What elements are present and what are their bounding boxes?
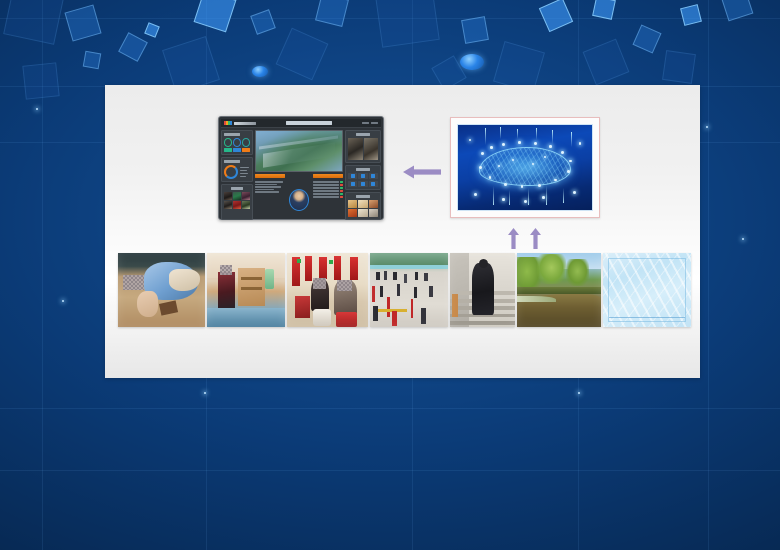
photo-stair [450,321,516,325]
background-gridline [0,408,780,409]
ai-brain-illustration[interactable] [450,117,600,218]
photo-person [424,273,427,281]
cctv-card-title [356,133,370,136]
brain-light-ray [509,190,510,205]
dashboard-right-panel [345,130,381,220]
photo-treeline [370,253,447,265]
cctv-card [345,130,381,163]
brain-node [490,146,493,149]
photo-person [376,272,379,280]
grid-icon[interactable] [348,173,357,179]
background-gridline [708,0,709,550]
brain-node [579,142,582,145]
background-spark [578,392,580,394]
gauge-meter[interactable] [242,138,250,147]
source-scene-photos [118,253,691,327]
gauge-meter[interactable] [224,138,232,147]
brain-node [554,179,557,182]
dashboard-logo-icon [224,121,232,125]
status-row [313,190,343,192]
ring-chart-legend [240,167,250,178]
content-slide-panel [105,85,700,378]
photo-decoration [350,257,357,279]
person-thumbnails-card [221,184,253,220]
gauge-meter[interactable] [233,138,241,147]
photo-railing [452,294,457,316]
face-mosaic [220,265,232,275]
photo-floor [207,308,284,327]
status-row [313,187,343,189]
photo-banner [370,265,447,269]
background-square [374,0,440,48]
list-item[interactable] [287,253,368,327]
brain-light-ray [571,132,572,147]
photo-cabinet-line [241,287,261,290]
brain-light-ray [546,185,547,205]
cctv-view[interactable] [364,138,379,160]
photo-person [380,286,384,297]
status-row [313,181,343,183]
background-spark [706,126,708,128]
status-row [313,193,343,195]
person-thumbnail[interactable] [242,192,250,200]
photo-barrier-rail [373,309,407,312]
brain-node [469,139,472,142]
brain-light-ray [485,128,486,145]
evidence-photo[interactable] [369,200,378,208]
photo-box [336,312,357,327]
arrow-up-right [530,228,541,249]
photo-person [392,311,397,326]
icon-grid[interactable] [348,173,378,187]
brain-node [542,196,545,199]
brain-node [518,141,521,144]
section-bar-row [255,174,343,178]
brain-node [524,200,527,203]
person-thumbnails-title [231,187,243,190]
brain-light-ray [552,130,553,144]
photo-subject [218,272,235,308]
detail-list-left [255,180,285,220]
brain-node [489,176,492,179]
photo-person [421,308,426,324]
icon-grid-title [356,168,370,171]
evidence-photo[interactable] [369,209,378,217]
brain-node [561,151,564,154]
gauge-button[interactable] [233,148,241,152]
photo-tree [566,259,589,286]
brain-node [538,184,541,187]
list-item[interactable] [603,253,691,327]
ring-chart-card [221,157,253,182]
list-item[interactable] [517,253,600,327]
status-row [313,184,343,186]
photo-inner-line [609,317,685,318]
list-item[interactable] [370,253,447,327]
background-square [83,51,102,70]
video-overlay-strip [259,136,338,150]
photo-decoration [297,259,301,263]
photo-decoration [319,257,326,279]
brain-node [502,143,505,146]
brain-node [502,198,505,201]
grid-icon[interactable] [369,181,378,187]
person-thumbnail[interactable] [233,192,241,200]
section-bar-left [255,174,285,178]
person-thumbnail[interactable] [224,201,232,209]
brain-light-ray [500,127,501,139]
brain-light-ray [517,129,518,139]
ai-brain-image [457,124,593,211]
brain-node [534,142,537,145]
photo-person [429,286,433,298]
photo-person [415,272,418,281]
photo-person [397,284,401,296]
person-avatar[interactable] [289,189,309,211]
evidence-photo-grid[interactable] [348,200,378,217]
grid-icon[interactable] [358,181,367,187]
donut-chart[interactable] [224,165,238,179]
photo-subject [295,296,310,318]
gauge-button[interactable] [224,148,232,152]
background-square [662,50,696,84]
photo-person [404,274,407,283]
dashboard-left-panel [221,130,253,220]
brain-node [474,193,477,196]
evidence-photo[interactable] [358,209,367,217]
photo-tree [537,254,565,284]
brain-node [512,159,514,161]
section-bar-right [313,174,343,178]
photo-barrier [387,297,389,316]
photo-decoration [305,256,312,281]
dashboard-title [258,121,361,125]
background-spark [742,238,744,240]
focus-person-panel[interactable] [287,180,311,220]
photo-person [384,271,387,280]
ring-chart-title [224,160,240,163]
gauges-card-title [224,133,240,136]
detail-list-right [313,180,343,220]
list-item[interactable] [450,253,516,327]
evidence-photo-card [345,192,381,220]
person-thumbnail-grid[interactable] [224,192,250,209]
brain-node [569,160,572,163]
photo-person [414,287,418,298]
brain-node [573,191,576,194]
background-square [461,16,489,44]
background-spark [204,392,206,394]
dashboard-nav[interactable] [362,122,378,125]
person-thumbnail[interactable] [242,201,250,209]
face-mosaic [123,275,144,290]
background-square [22,62,59,99]
photo-subject-head [479,259,488,268]
status-row [313,196,343,198]
dashboard-header [221,119,381,128]
evidence-photo[interactable] [348,209,357,217]
photo-person [393,272,396,280]
icon-grid-card [345,165,381,190]
person-thumbnail[interactable] [233,201,241,209]
photo-barrier [372,286,375,302]
gauge-button[interactable] [242,148,250,152]
gauge-button-row[interactable] [224,148,250,152]
face-mosaic [313,278,326,289]
grid-icon[interactable] [348,181,357,187]
person-thumbnail[interactable] [224,192,232,200]
center-bottom-row [255,180,343,220]
photo-barrier [411,299,413,318]
background-gridline [0,470,780,471]
photo-path [517,296,555,302]
gauge-row [224,138,250,147]
brain-light-ray [493,186,494,205]
brain-node [549,145,552,148]
photo-object [159,300,179,315]
ring-chart-body [224,165,250,179]
photo-decoration [334,256,341,280]
photo-inner-border [608,258,686,322]
background-spark [36,108,38,110]
photo-subject [472,263,494,315]
photo-basin [313,309,331,325]
main-video-feed[interactable] [255,130,343,172]
cctv-view[interactable] [348,138,363,160]
brain-light-ray [528,188,529,205]
list-item[interactable] [207,253,284,327]
brain-node [504,183,507,186]
brain-light-ray [536,128,537,141]
cctv-view-row[interactable] [348,138,378,160]
photo-cabinet-line [241,277,261,280]
photo-decoration [329,260,333,264]
brain-node [481,152,484,155]
grid-icon[interactable] [369,173,378,179]
evidence-photo[interactable] [348,200,357,208]
photo-arm [137,291,158,316]
brain-node [567,170,570,173]
photo-person [373,306,378,321]
photo-bank [517,287,600,294]
evidence-photo-title [356,195,370,198]
dashboard-body [221,128,381,220]
background-spark [62,300,64,302]
list-item[interactable] [118,253,205,327]
arrow-left [403,165,441,179]
face-mosaic [337,280,352,292]
brain-light-ray [563,188,564,203]
dashboard-brand-label [234,122,256,125]
background-dot [460,54,484,70]
dashboard-center-panel [255,130,343,220]
surveillance-command-dashboard[interactable] [218,116,384,220]
arrow-up-left [508,228,519,249]
grid-icon[interactable] [358,173,367,179]
background-dot [252,66,268,77]
gauges-card [221,130,253,155]
evidence-photo[interactable] [358,200,367,208]
photo-bottle [265,269,274,288]
